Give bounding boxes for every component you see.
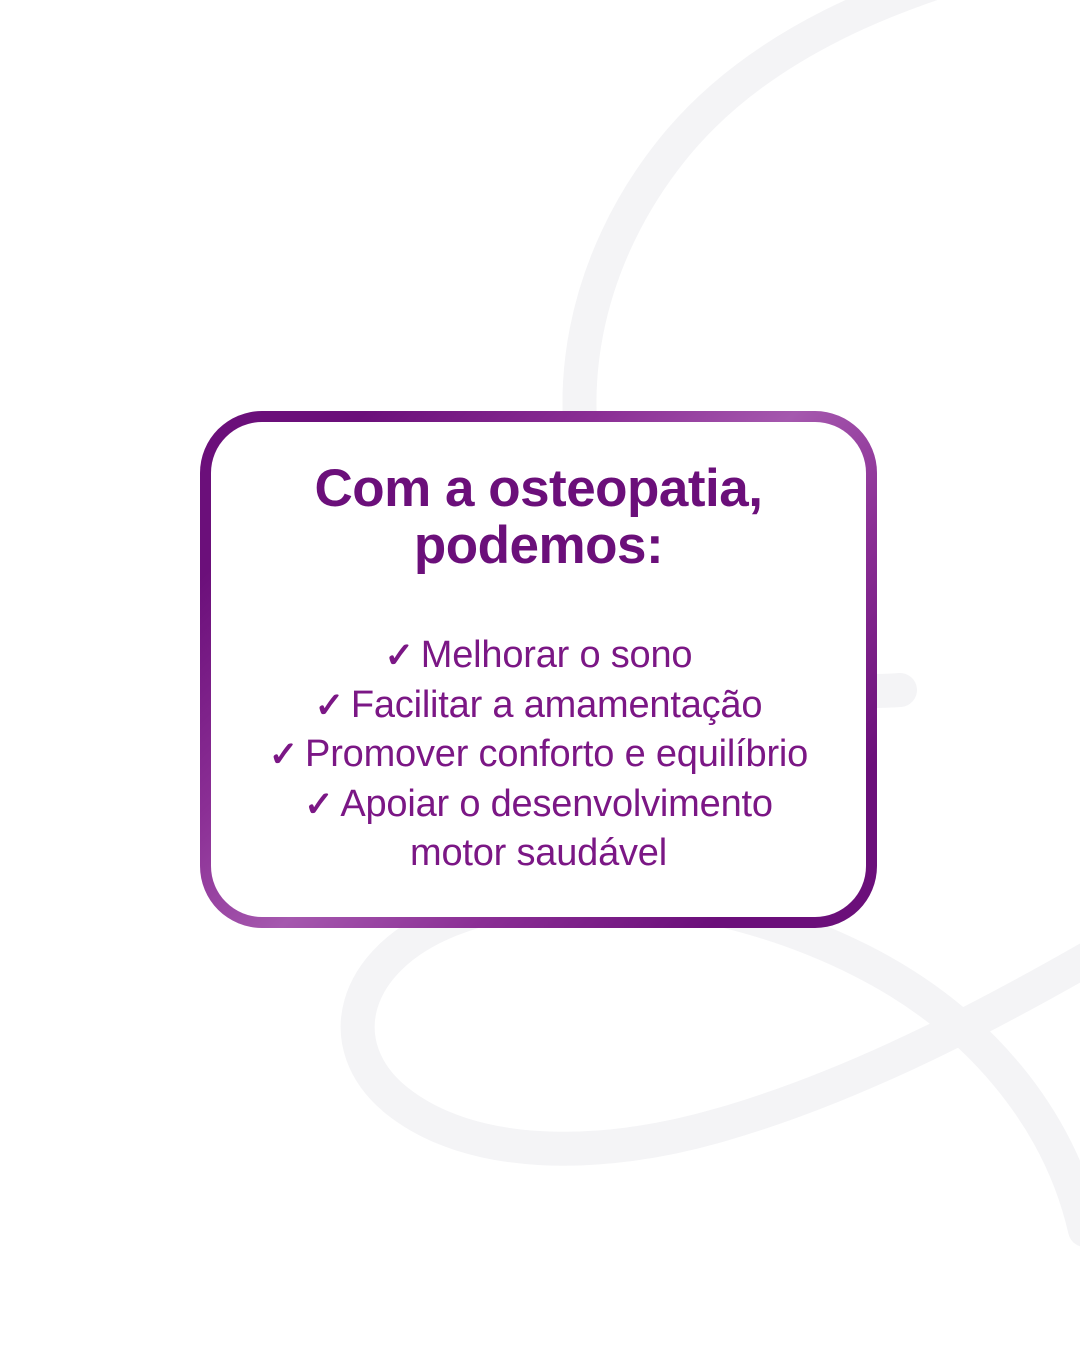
benefits-card: Com a osteopatia, podemos: ✓Melhorar o s… [200,411,877,928]
list-item-label: Apoiar o desenvolvimento motor saudável [340,783,772,874]
benefits-list: ✓Melhorar o sono ✓Facilitar a amamentaçã… [229,631,848,878]
list-item: ✓Facilitar a amamentação [229,681,848,730]
swirl-stroke-lower [358,895,1080,1230]
list-item-label: Promover conforto e equilíbrio [305,733,808,775]
list-item: ✓Melhorar o sono [229,631,848,680]
check-icon: ✓ [269,732,298,778]
check-icon: ✓ [315,683,344,729]
list-item-label: Facilitar a amamentação [351,684,762,726]
card-title: Com a osteopatia, podemos: [229,460,848,574]
list-item-label: Melhorar o sono [421,634,693,676]
check-icon: ✓ [304,782,333,828]
check-icon: ✓ [385,633,414,679]
list-item: ✓Apoiar o desenvolvimento motor saudável [229,780,848,879]
card-content: Com a osteopatia, podemos: ✓Melhorar o s… [211,422,866,878]
list-item: ✓Promover conforto e equilíbrio [229,730,848,779]
